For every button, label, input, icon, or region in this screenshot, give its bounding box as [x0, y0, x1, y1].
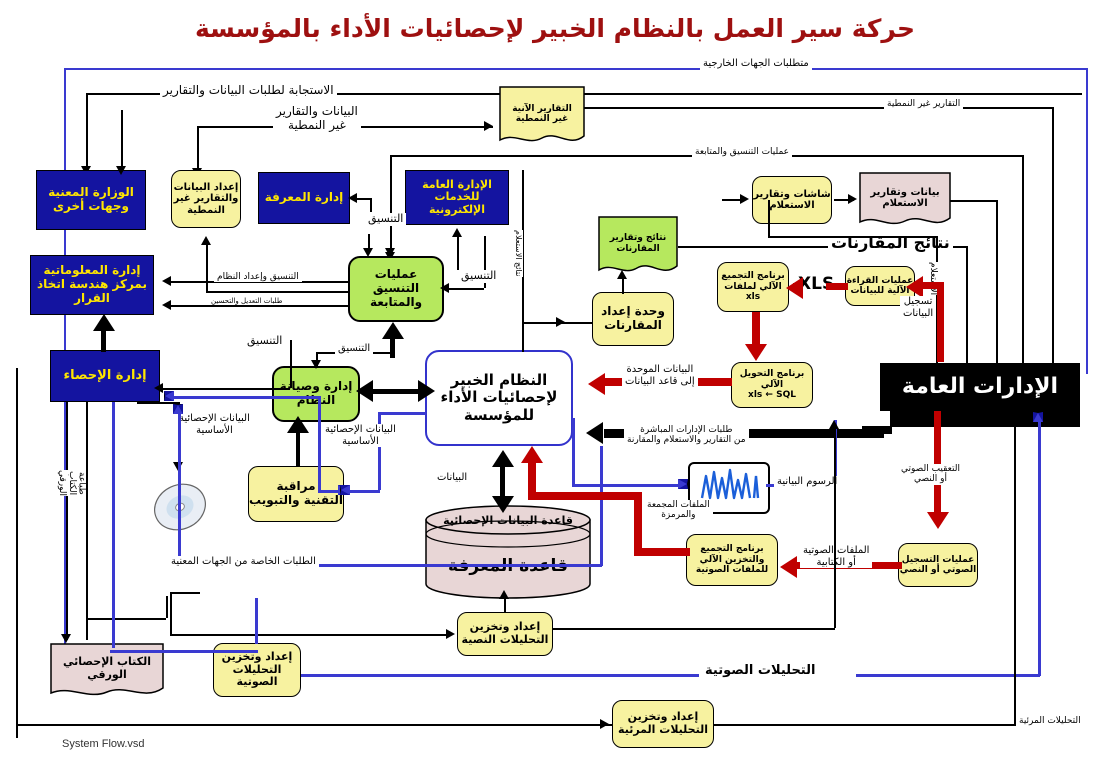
- line-expert-graph-v: [572, 418, 575, 484]
- arrow-print-book: [61, 634, 71, 643]
- arrow-egov-to-coord: [440, 283, 449, 293]
- line-text-analysis-right: [553, 628, 835, 630]
- node-query-screens[interactable]: شاشات وتقارير الاستعلام: [752, 176, 832, 224]
- label-coordination-4: التنسيق: [244, 335, 285, 348]
- arrow-stat-coord: [154, 383, 163, 393]
- node-prepare-text-analysis[interactable]: إعداد وتخزين التحليلات النصية: [457, 612, 553, 656]
- line-basic-stat-2-top: [378, 412, 426, 415]
- line-modification-requests: [170, 305, 348, 307]
- node-knowledge-base[interactable]: قاعدة البيانات الإحصائية قاعدة المعرفة: [424, 504, 592, 600]
- line-query-vertical-top: [768, 236, 938, 238]
- node-tech-tab-monitor[interactable]: مراقبة التقنية والتبويب: [248, 466, 344, 522]
- node-comparison-unit[interactable]: وحدة إعداد المقارنات: [592, 292, 674, 346]
- label-basic-statistical-data-2: البيانات الإحصائية الأساسية: [322, 424, 399, 447]
- knowledge-base-top-label: قاعدة البيانات الإحصائية: [424, 514, 592, 527]
- node-prepare-nonstandard[interactable]: إعداد البيانات والتقارير غير النمطية: [171, 170, 241, 228]
- line-response-down-to-ministry: [86, 93, 88, 170]
- line-expert-graph-h: [572, 484, 684, 487]
- line-print-book: [66, 402, 68, 640]
- line-comparison-results-v: [966, 246, 968, 372]
- label-audio-text-tracking: التعقيب الصوتي أو النصي: [898, 464, 963, 485]
- arrow-stat-to-informatics: [93, 314, 115, 331]
- arrow-agg-files-up: [521, 446, 543, 463]
- label-unified-data: البيانات الموحدة إلى قاعد البيانات: [622, 364, 698, 387]
- line-expert-comparison: [562, 322, 592, 324]
- node-expert-system[interactable]: النظام الخبير لإحصائيات الأداء للمؤسسة: [425, 350, 573, 446]
- label-audio-analyses: التحليلات الصوتية: [702, 664, 818, 679]
- line-coord-to-prepare: [206, 291, 348, 293]
- node-audio-collect-store[interactable]: برنامج التجميع والتخزين الآلي للملفات ال…: [686, 534, 778, 586]
- outer-blue-frame-right: [1086, 68, 1088, 374]
- line-special-requests-v: [178, 412, 181, 564]
- arrow-audio-analyses-up: [1033, 412, 1043, 422]
- arrow-to-knowledge-mgmt: [348, 193, 357, 203]
- label-basic-statistical-data-1: البيانات الإحصائية الأساسية: [176, 413, 253, 436]
- line-paper-book-top: [86, 618, 166, 620]
- label-coordination-system-setup: التنسيق وإعداد النظام: [214, 272, 302, 282]
- node-instant-reports-label: التقارير الآنية غير النمطية: [508, 104, 576, 125]
- node-general-administrations[interactable]: الإدارات العامة: [880, 363, 1080, 411]
- label-coordination-3: التنسيق: [335, 343, 373, 355]
- label-visual-analyses: التحليلات المرئية: [1016, 716, 1084, 726]
- arrow-to-maint: [311, 360, 321, 369]
- arrow-direct-admin-requests: [586, 422, 603, 444]
- arrow-maint-to-coord: [382, 322, 404, 339]
- line-prepare-nonstandard-up: [206, 244, 208, 292]
- line-text-analysis-right-v: [834, 594, 836, 628]
- line-admin-left-out: [862, 426, 892, 434]
- node-statistics-dept[interactable]: إدارة الإحصاء: [50, 350, 160, 402]
- line-expert-kb: [500, 464, 505, 500]
- line-agg-files-h2: [634, 548, 690, 556]
- line-into-text-analysis-top: [170, 592, 200, 594]
- arrow-coord-setup-informatics: [162, 276, 171, 286]
- arrow-expert-kb-up: [492, 450, 514, 467]
- arrow-special-requests-up: [173, 404, 183, 414]
- line-paper-book-side: [86, 402, 88, 640]
- node-paper-statistics-book-label: الكتاب الإحصائي الورقي: [59, 656, 155, 681]
- node-auto-convert-sql[interactable]: برنامج التحويل الآلي xls ← SQL: [731, 362, 813, 408]
- line-querydoc-down: [996, 200, 998, 372]
- label-audio-text-files: الملفات الصوتية أو الكتابية: [800, 545, 872, 568]
- label-response-to-requests: الاستجابة لطلبات البيانات والتقارير: [160, 84, 337, 98]
- arrow-coord-in-2: [385, 248, 395, 257]
- label-coordination-followup-ops: عمليات التنسيق والمتابعة: [692, 147, 792, 157]
- node-instant-reports[interactable]: التقارير الآنية غير النمطية: [499, 86, 585, 148]
- line-basic-stat-1v: [318, 396, 321, 490]
- arrow-text-analysis-up: [499, 590, 509, 599]
- line-audio-frame-h: [110, 650, 258, 653]
- node-audio-record-ops[interactable]: عمليات التسجيل الصوتي أو النصي: [898, 543, 978, 587]
- page-title: حركة سير العمل بالنظام الخبير لإحصائيات …: [0, 14, 1110, 43]
- arrow-read-ops-in: [906, 276, 923, 298]
- line-into-text-analysis: [170, 634, 450, 636]
- line-into-visual-analysis: [30, 724, 612, 726]
- label-special-requests: الطلبات الخاصة من الجهات المعنية: [168, 556, 319, 568]
- label-coordination-1: التنسيق: [365, 213, 406, 226]
- line-audio-analyses-right: [856, 674, 1040, 677]
- label-query-results: نتائج الاستعلام: [514, 230, 523, 277]
- line-text-to-admin: [834, 428, 836, 596]
- line-nonstandard-reports-down: [1052, 107, 1054, 372]
- line-audio-frame-connect: [255, 598, 258, 644]
- node-query-data-reports-label: بيانات وتقارير الاستعلام: [866, 187, 943, 210]
- line-to-query-screens: [768, 200, 770, 236]
- line-nonstandard-reports: [578, 107, 1053, 109]
- label-aggregated-encoded-files: الملفات المجمعة والمرمزة: [644, 500, 713, 521]
- line-visual-to-admin-v: [1014, 420, 1016, 724]
- arrow-query-screens-to-doc: [848, 194, 857, 204]
- arrow-expert-to-graph: [678, 479, 688, 489]
- node-egov-general-admin[interactable]: الإدارة العامة للخدمات الإلكترونية: [405, 170, 509, 225]
- label-nonstandard-data-reports: البيانات والتقارير غير النمطية: [273, 105, 361, 133]
- line-querydoc-out: [950, 200, 998, 202]
- line-paper-book-riser: [166, 596, 168, 618]
- arrow-expert-kb-down: [492, 496, 514, 513]
- node-informatics-admin[interactable]: إدارة المعلوماتية بمركز هندسة اتخاذ القر…: [30, 255, 154, 315]
- node-auto-collect-xls[interactable]: برنامج التجميع الآلي لملفات xls: [717, 262, 789, 312]
- outer-blue-frame-top: [64, 68, 1088, 70]
- line-agg-files-v2: [634, 492, 642, 556]
- line-basic-stat-1: [172, 396, 320, 399]
- label-data-registration: تسجيل البيانات: [900, 296, 936, 319]
- line-to-knowledge-mgmt: [356, 198, 370, 200]
- label-modification-requests: طلبات التعديل والتحسين: [208, 297, 285, 305]
- arrow-into-text-analysis: [446, 629, 455, 639]
- line-admin-to-audio: [934, 411, 941, 515]
- diagram-canvas: حركة سير العمل بالنظام الخبير لإحصائيات …: [0, 0, 1110, 773]
- line-basic-stat-2h: [348, 490, 380, 493]
- arrow-collect-to-convert: [745, 344, 767, 361]
- arrow-modification-informatics: [162, 300, 171, 310]
- line-agg-files-v: [528, 462, 536, 496]
- footer-filename: System Flow.vsd: [62, 738, 145, 750]
- line-xls-1: [826, 283, 848, 290]
- arrow-unified-data: [588, 373, 605, 395]
- line-audio-analyses-up: [1038, 420, 1041, 676]
- arrow-query-vertical: [931, 366, 941, 375]
- arrow-expert-right: [418, 380, 435, 402]
- line-egov-coord-h: [448, 288, 484, 290]
- label-coordination-2: التنسيق: [458, 270, 499, 283]
- line-knowledge-mgmt-v: [370, 198, 372, 212]
- line-monitor-maint: [296, 428, 300, 466]
- line-coordination-into-ops: [390, 155, 392, 256]
- arrow-comparison-results-down: [961, 366, 971, 375]
- line-into-query-screens: [722, 199, 744, 201]
- label-nonstandard-reports: التقارير غير النمطية: [884, 99, 963, 109]
- node-system-maintenance[interactable]: إدارة وصيانة النظام: [272, 366, 360, 422]
- node-query-data-reports[interactable]: بيانات وتقارير الاستعلام: [859, 172, 951, 230]
- line-comparison-unit-up: [622, 278, 624, 294]
- label-direct-admin-requests: طلبات الإدارات المباشرة من التقارير والا…: [624, 425, 749, 446]
- line-stat-coord-v: [290, 340, 292, 388]
- label-external-requirements: متطلبات الجهات الخارجية: [700, 58, 812, 70]
- line-stat-blue-loop: [112, 402, 115, 648]
- outer-black-frame-left: [16, 368, 18, 738]
- arrow-maint-left: [356, 380, 373, 402]
- line-special-requests-right-v: [600, 446, 603, 566]
- arrow-comparison-unit-up: [617, 270, 627, 279]
- line-collect-to-convert: [752, 312, 760, 346]
- arrow-into-visual-analysis: [600, 719, 609, 729]
- line-coordination-followup-down: [1022, 155, 1024, 372]
- arrow-xls-to-collect: [786, 277, 803, 299]
- arrow-admin-to-audio: [927, 512, 949, 529]
- label-data: البيانات: [434, 472, 470, 484]
- label-print-paper-book: طباعة الكتاب الورقي: [56, 470, 86, 496]
- line-top-to-ministry: [121, 110, 123, 170]
- arrow-basic-stat-2: [340, 485, 350, 495]
- line-maint-coord: [390, 336, 395, 358]
- arrow-monitor-to-maint: [287, 416, 309, 433]
- line-visual-analysis-out: [714, 724, 1014, 726]
- arrow-prepare-nonstandard-up: [201, 236, 211, 245]
- arrow-to-instant-reports: [484, 121, 493, 131]
- arrow-basic-stat-1: [164, 391, 174, 401]
- arrow-coord-in-1: [363, 248, 373, 257]
- line-audio-analyses-left: [301, 674, 699, 677]
- line-agg-files-h: [528, 492, 642, 500]
- arrow-audio-files: [780, 556, 797, 578]
- node-coordination-ops[interactable]: عمليات التنسيق والمتابعة: [348, 256, 444, 322]
- arrow-top-to-ministry: [116, 166, 126, 175]
- node-prepare-visual-analysis[interactable]: إعداد وتخزين التحليلات المرئية: [612, 700, 714, 748]
- line-coord-to-egov-v: [457, 236, 459, 270]
- node-comparison-results-doc[interactable]: نتائج وتقارير المقارنات: [598, 216, 678, 278]
- arrow-querydoc-down: [991, 366, 1001, 375]
- node-knowledge-mgmt[interactable]: إدارة المعرفة: [258, 172, 350, 224]
- line-nonstandard-down: [197, 126, 199, 172]
- line-stat-coord: [162, 388, 290, 390]
- node-ministry[interactable]: الوزارة المعنية وجهات أخرى: [36, 170, 146, 230]
- line-registration-v: [937, 282, 944, 362]
- node-comparison-results-label: نتائج وتقارير المقارنات: [606, 233, 670, 254]
- label-charts: الرسوم البيانية: [774, 476, 840, 488]
- line-into-text-analysis-v: [170, 592, 172, 634]
